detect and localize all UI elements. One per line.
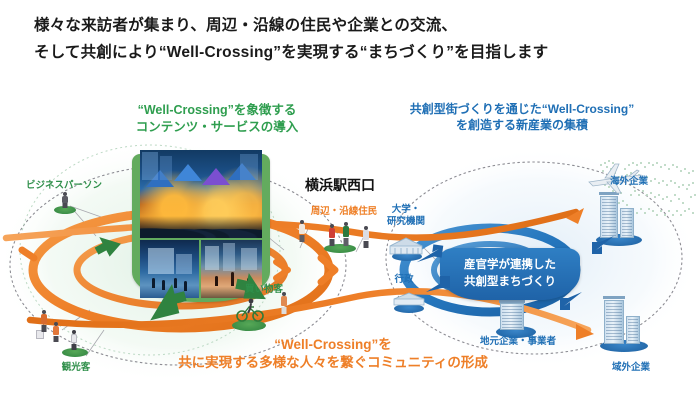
label-government: 行政 (386, 274, 422, 286)
label-university-research: 大学・ 研究機関 (376, 204, 436, 228)
caption-content-line-2: コンテンツ・サービスの導入 (92, 119, 342, 136)
caption-content-line-1: “Well-Crossing”を象徴する (92, 102, 342, 119)
blue-arrow-university (417, 242, 444, 265)
caption-content-service: “Well-Crossing”を象徴する コンテンツ・サービスの導入 (92, 102, 342, 136)
caption-community-line-2: 共に実現する多様な人々を繋ぐコミュニティの形成 (168, 354, 498, 372)
infographic-canvas: 様々な来訪者が集まり、周辺・沿線の住民や企業との交流、 そして共創により“Wel… (0, 0, 700, 413)
label-university-line-1: 大学・ (376, 204, 436, 216)
blue-arrow-government (426, 276, 450, 292)
caption-new-industry: 共創型街づくりを通じた“Well-Crossing” を創造する新産業の集積 (378, 101, 666, 133)
label-tourist: 観光客 (36, 362, 116, 374)
label-overseas-business: 海外企業 (598, 176, 660, 188)
label-shopper: 買い物客 (226, 284, 302, 296)
station-label: 横浜駅西口 (305, 175, 375, 195)
label-outside-region-business: 域外企業 (598, 362, 664, 374)
label-local-business: 地元企業・事業者 (472, 336, 564, 348)
label-business-person: ビジネスパーソン (14, 180, 114, 192)
blue-arrow-overseas (592, 236, 614, 254)
label-nearby-residents: 周辺・沿線住民 (302, 206, 386, 218)
caption-industry-line-1: 共創型街づくりを通じた“Well-Crossing” (378, 101, 666, 117)
caption-community-line-1: “Well-Crossing”を (168, 336, 498, 354)
blue-arrow-local (560, 292, 582, 310)
label-university-line-2: 研究機関 (376, 216, 436, 228)
caption-industry-line-2: を創造する新産業の集積 (378, 117, 666, 133)
caption-community: “Well-Crossing”を 共に実現する多様な人々を繋ぐコミュニティの形成 (168, 336, 498, 372)
